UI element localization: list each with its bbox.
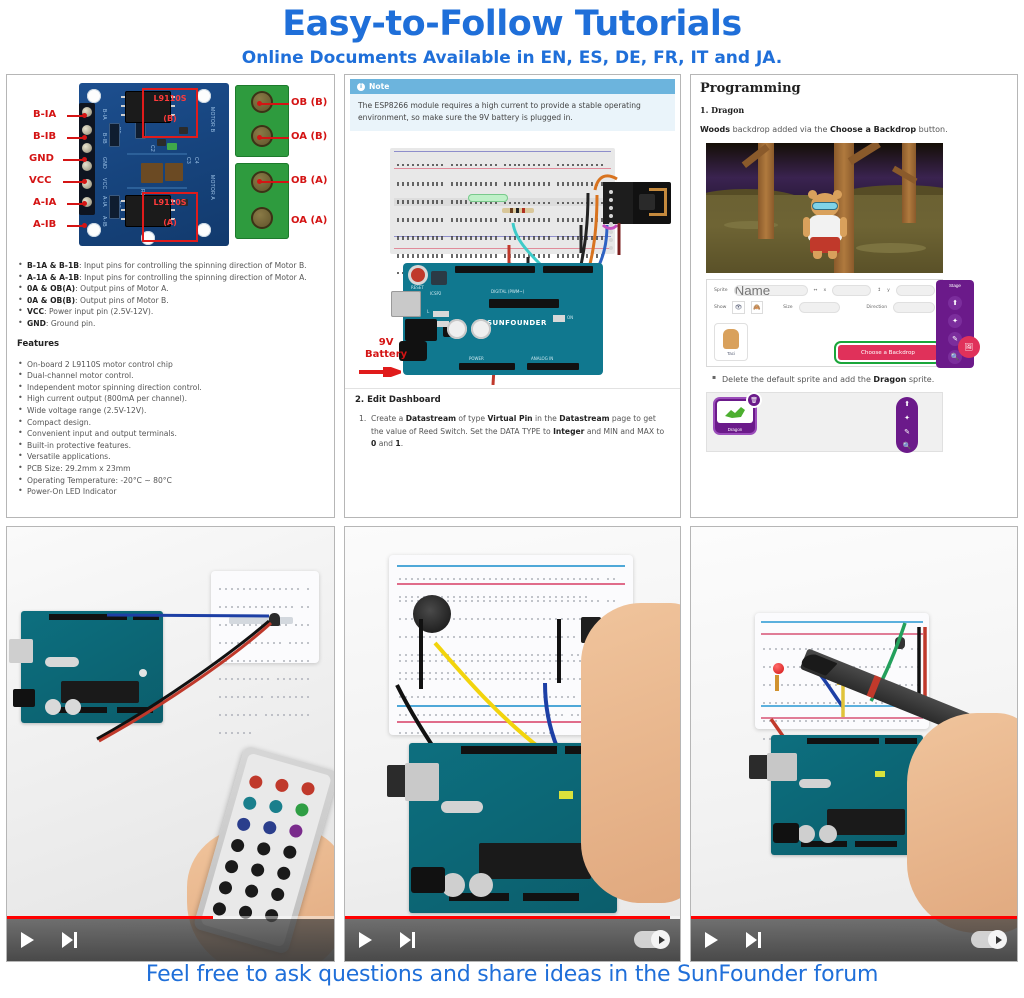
pin-label-ob-b: OB (B) <box>291 97 327 108</box>
features-heading: Features <box>7 330 334 355</box>
chip-b-channel: (B) <box>144 114 196 123</box>
y-label: y <box>887 288 890 293</box>
sprite-thumbnail[interactable]: Taci <box>714 323 748 361</box>
dragon-card-name: Dragon <box>715 427 755 432</box>
paragraph-bold-backdrop: Choose a Backdrop <box>830 125 916 134</box>
board-mark-power: POWER <box>469 356 484 361</box>
size-input[interactable] <box>799 302 841 313</box>
list-item: Power-On LED Indicator <box>17 486 326 498</box>
list-item: Independent motor spinning direction con… <box>17 382 326 394</box>
surprise-icon[interactable]: ✦ <box>948 314 962 328</box>
programming-heading: Programming <box>700 81 1008 96</box>
scratch-stage-preview <box>706 143 943 273</box>
pin-label-gnd: GND <box>29 153 54 164</box>
battery-label-line2: Battery <box>365 349 407 361</box>
motor-a-terminal <box>235 163 289 239</box>
video-ir-remote-arduino[interactable] <box>6 526 335 962</box>
info-icon: i <box>357 83 365 91</box>
list-item: Create a Datastream of type Virtual Pin … <box>359 413 670 451</box>
sprite-thumb-name: Taci <box>727 351 735 356</box>
dragon-sprite-card[interactable]: Dragon 🗑 <box>715 399 755 433</box>
sprite-toolbar: ⬆ ✦ ✎ 🔍 <box>896 397 918 453</box>
volume-slider[interactable] <box>971 931 1005 948</box>
bottom-video-row <box>6 526 1018 962</box>
pin-description-list: B-1A & B-1B: Input pins for controlling … <box>7 256 334 330</box>
highlight-box-chip-b: L9110S (B) <box>142 88 198 138</box>
video-buzzer-breadboard[interactable] <box>344 526 681 962</box>
page-subtitle: Online Documents Available in EN, ES, DE… <box>0 47 1024 69</box>
bullet-bold-dragon: Dragon <box>873 375 906 384</box>
sprite-name-input[interactable] <box>734 285 808 296</box>
hand <box>907 713 1017 933</box>
surprise-icon[interactable]: ✦ <box>896 411 918 425</box>
reset-button[interactable] <box>411 268 425 282</box>
pin-label-oa-b: OA (B) <box>291 131 327 142</box>
pin-label-vcc: VCC <box>29 175 51 186</box>
play-icon[interactable] <box>705 932 718 948</box>
volume-knob[interactable] <box>988 930 1007 949</box>
battery-label-line1: 9V <box>365 337 407 349</box>
motor-driver-figure: B-IA B-IB GND VCC A-IA A-IB MOTOR B MOTO… <box>7 75 334 256</box>
video-surface[interactable] <box>345 527 680 961</box>
list-item: PCB Size: 29.2mm x 23mm <box>17 463 326 475</box>
footer: Feel free to ask questions and share ide… <box>0 962 1024 987</box>
board-mark-digital: DIGITAL (PWM~) <box>491 289 524 294</box>
note-header: i Note <box>350 79 675 94</box>
panel-motor-driver: B-IA B-IB GND VCC A-IA A-IB MOTOR B MOTO… <box>6 74 335 518</box>
note-title: Note <box>369 82 389 91</box>
next-icon[interactable] <box>62 932 80 948</box>
board-mark-icsp2: ICSP2 <box>430 291 441 296</box>
board-mark-analog: ANALOG IN <box>531 356 553 361</box>
features-list: On-board 2 L9110S motor control chip Dua… <box>7 355 334 498</box>
scratch-sprite-panel: Sprite ↔ x ↕ y Show 👁 🙈 Size Direction <box>706 279 943 367</box>
footer-text: Feel free to ask questions and share ide… <box>146 962 878 987</box>
panel-wiring: i Note The ESP8266 module requires a hig… <box>344 74 681 518</box>
list-item: 0A & OB(B): Output pins of Motor B. <box>17 295 326 307</box>
paragraph-bold-woods: Woods <box>700 125 730 134</box>
list-item: A-1A & A-1B: Input pins for controlling … <box>17 272 326 284</box>
sunfounder-logo-text: SUNFOUNDER <box>487 319 547 327</box>
list-item: Convenient input and output terminals. <box>17 428 326 440</box>
pin-label-b-ia: B-IA <box>33 109 56 120</box>
silk-c3: C3 <box>185 157 191 164</box>
x-input[interactable] <box>832 285 871 296</box>
paint-icon[interactable]: ✎ <box>896 425 918 439</box>
video-surface[interactable] <box>7 527 334 961</box>
note-callout: i Note The ESP8266 module requires a hig… <box>350 79 675 131</box>
silk-c4: C4 <box>193 157 199 164</box>
silk-vcc: VCC <box>101 178 107 189</box>
programming-subheading: 1. Dragon <box>700 105 1008 115</box>
play-icon[interactable] <box>21 932 34 948</box>
list-item: Versatile applications. <box>17 451 326 463</box>
pin-label-oa-a: OA (A) <box>291 215 327 226</box>
video-controls <box>691 919 1017 961</box>
highlight-box-chip-a: L9110S (A) <box>142 192 198 242</box>
choose-a-backdrop-button[interactable]: Choose a Backdrop <box>838 345 938 360</box>
list-item: On-board 2 L9110S motor control chip <box>17 359 326 371</box>
volume-knob[interactable] <box>651 930 670 949</box>
list-item: Operating Temperature: -20°C ~ 80°C <box>17 475 326 487</box>
chip-b-name: L9110S <box>144 94 196 103</box>
list-item: Built-in protective features. <box>17 440 326 452</box>
next-icon[interactable] <box>746 932 764 948</box>
list-item: Dual-channel motor control. <box>17 370 326 382</box>
scratch-sprite-list: Dragon 🗑 ⬆ ✦ ✎ 🔍 <box>706 392 943 452</box>
dragon-icon <box>717 401 753 423</box>
silk-b1b: B-IB <box>101 133 107 144</box>
upload-icon[interactable]: ⬆ <box>948 296 962 310</box>
battery-annotation: 9V Battery <box>365 337 407 361</box>
video-surface[interactable] <box>691 527 1017 961</box>
chip-a-name: L9110S <box>144 198 196 207</box>
step-heading: 2. Edit Dashboard <box>345 388 680 409</box>
list-item: GND: Ground pin. <box>17 318 326 330</box>
list-item: 0A & OB(A): Output pins of Motor A. <box>17 283 326 295</box>
silk-motor-b: MOTOR B <box>209 107 215 132</box>
pin-label-a-ib: A-IB <box>33 219 56 230</box>
show-hidden-icon[interactable]: 🙈 <box>751 301 763 314</box>
page-title: Easy-to-Follow Tutorials <box>0 2 1024 46</box>
board-mark-reset: RESET <box>411 285 424 290</box>
board-mark-on: ON <box>567 315 573 320</box>
delete-sprite-bullet: Delete the default sprite and add the Dr… <box>712 375 1008 384</box>
tutorial-collage: Easy-to-Follow Tutorials Online Document… <box>0 0 1024 998</box>
wiring-diagram: SUNFOUNDER RESET ICSP2 DIGITAL (PWM~) L … <box>345 135 681 385</box>
y-input[interactable] <box>896 285 935 296</box>
battery-connector <box>405 319 437 341</box>
direction-input[interactable] <box>893 302 935 313</box>
bear-sprite <box>804 193 846 259</box>
usb-port <box>391 291 421 317</box>
updown-arrow-icon: ↕ <box>877 288 881 293</box>
battery-arrow-icon <box>359 367 401 377</box>
silk-gnd: GND <box>101 157 107 169</box>
stage-column: Stage ⬆ ✦ ✎ 🔍 🖼 <box>936 280 974 368</box>
silk-a1b: A-IB <box>101 216 107 227</box>
video-controls <box>7 919 334 961</box>
programming-paragraph: Woods backdrop added via the Choose a Ba… <box>700 125 1008 134</box>
video-leds-pen[interactable] <box>690 526 1018 962</box>
list-item: VCC: Power input pin (2.5V-12V). <box>17 306 326 318</box>
show-visible-icon[interactable]: 👁 <box>732 301 744 314</box>
volume-slider[interactable] <box>634 931 668 948</box>
list-item: B-1A & B-1B: Input pins for controlling … <box>17 260 326 272</box>
arduino-photo <box>771 735 923 855</box>
silk-motor-a: MOTOR A <box>209 175 215 200</box>
show-label: Show <box>714 305 726 310</box>
hand <box>581 603 680 903</box>
pin-label-ob-a: OB (A) <box>291 175 327 186</box>
size-label: Size <box>783 305 792 310</box>
next-icon[interactable] <box>400 932 418 948</box>
play-icon[interactable] <box>359 932 372 948</box>
note-body: The ESP8266 module requires a high curre… <box>350 94 675 131</box>
video-controls <box>345 919 680 961</box>
silk-c2: C2 <box>149 145 155 152</box>
pin-label-b-ib: B-IB <box>33 131 56 142</box>
x-label: x <box>823 288 826 293</box>
motor-b-terminal <box>235 85 289 157</box>
silk-a1a: A-IA <box>101 196 107 207</box>
list-item: High current output (800mA per channel). <box>17 393 326 405</box>
top-panel-row: B-IA B-IB GND VCC A-IA A-IB MOTOR B MOTO… <box>6 74 1018 518</box>
search-icon[interactable]: 🔍 <box>896 439 918 453</box>
xy-arrow-icon: ↔ <box>814 288 818 293</box>
trash-icon[interactable]: 🗑 <box>748 394 760 406</box>
pin-label-a-ia: A-IA <box>33 197 56 208</box>
silk-b1a: B-IA <box>101 109 107 120</box>
upload-icon[interactable]: ⬆ <box>896 397 918 411</box>
stage-label: Stage <box>936 280 974 288</box>
arduino-uno-board: SUNFOUNDER RESET ICSP2 DIGITAL (PWM~) L … <box>403 263 603 375</box>
step-list: Create a Datastream of type Virtual Pin … <box>345 409 680 451</box>
panel-programming: Programming 1. Dragon Woods backdrop add… <box>690 74 1018 518</box>
list-item: Wide voltage range (2.5V-12V). <box>17 405 326 417</box>
backdrop-icon[interactable]: 🖼 <box>958 336 980 358</box>
direction-label: Direction <box>866 305 887 310</box>
chip-a-channel: (A) <box>144 218 196 227</box>
header: Easy-to-Follow Tutorials Online Document… <box>0 0 1024 69</box>
list-item: Compact design. <box>17 417 326 429</box>
sprite-label: Sprite <box>714 288 728 293</box>
board-mark-l: L <box>427 309 429 314</box>
